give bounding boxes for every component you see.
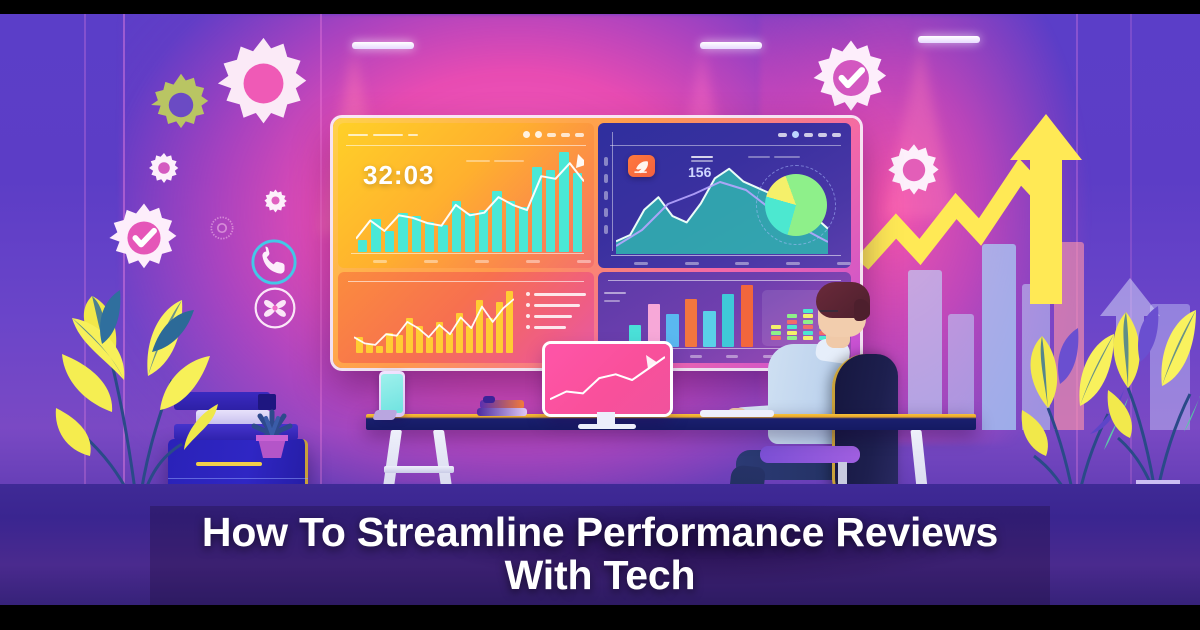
chart-bar (648, 304, 660, 347)
chart-segment (803, 336, 813, 340)
list-item (534, 315, 572, 318)
toolbar-dot-icon[interactable] (792, 131, 799, 138)
list-bullet-icon (526, 314, 530, 318)
book (483, 396, 495, 403)
person-glasses (820, 310, 838, 312)
chart-segment (787, 325, 797, 329)
phone-stand (372, 410, 397, 420)
area-chart-pie-panel[interactable]: 156 (598, 123, 851, 268)
letterbox-bottom (0, 605, 1200, 630)
keyboard[interactable] (700, 410, 774, 417)
gear-icon (216, 36, 311, 131)
screenshot-canvas: 32:03 (0, 0, 1200, 630)
line-chart (550, 349, 665, 409)
list-item (534, 293, 586, 296)
phone-icon (250, 238, 298, 286)
list-bullet-icon (526, 325, 530, 329)
toolbar-dot-icon[interactable] (535, 131, 542, 138)
list-bullet-icon (526, 303, 530, 307)
chart-bar (666, 314, 678, 347)
list-item (534, 326, 566, 329)
gear-check-icon (108, 202, 180, 274)
chart-segment (803, 325, 813, 329)
pie-chart (765, 174, 827, 236)
page-title-line2: With Tech (170, 554, 1030, 597)
gear-check-icon (812, 39, 890, 117)
axis-tick (604, 157, 608, 166)
chart-segment (787, 320, 797, 324)
toolbar-pill-icon[interactable] (575, 133, 584, 137)
spotlight-lamp (352, 42, 414, 49)
axis-tick (577, 260, 591, 263)
spotlight-lamp (700, 42, 762, 49)
axis-tick (690, 355, 702, 358)
chart-segment (787, 331, 797, 335)
office-scene: 32:03 (0, 14, 1200, 605)
main-monitor[interactable]: 32:03 (333, 118, 860, 368)
axis-tick (634, 262, 648, 265)
axis-tick (604, 208, 608, 217)
chart-segment (803, 320, 813, 324)
axis-tick (373, 260, 387, 263)
chart-segment (787, 314, 797, 318)
axis-tick (837, 262, 851, 265)
book (477, 408, 527, 416)
gear-icon (147, 151, 181, 185)
axis-tick (726, 355, 738, 358)
chart-segment (771, 331, 781, 335)
toolbar-pill-icon[interactable] (832, 133, 841, 137)
chart-bar (703, 311, 715, 347)
panel-toolbar[interactable] (778, 131, 841, 138)
chart-segment (803, 314, 813, 318)
chair-seat[interactable] (760, 446, 860, 463)
chart-bar (685, 299, 697, 347)
toolbar-pill-icon[interactable] (804, 133, 813, 137)
gear-outline-icon (208, 214, 236, 242)
secondary-monitor[interactable] (545, 344, 670, 414)
potted-succulent (248, 408, 296, 465)
axis-tick (685, 262, 699, 265)
bar-chart (626, 285, 756, 347)
gear-icon (147, 71, 215, 139)
axis-tick (604, 174, 608, 183)
spotlight-lamp (918, 36, 980, 43)
toolbar-pill-icon[interactable] (818, 133, 827, 137)
axis-tick (526, 260, 540, 263)
axis-tick (735, 262, 749, 265)
toolbar-pill-icon[interactable] (778, 133, 787, 137)
smartphone-screen (381, 374, 403, 413)
toolbar-dot-icon[interactable] (523, 131, 530, 138)
fan-icon (253, 286, 297, 330)
chart-segment (787, 336, 797, 340)
timer-bar-chart-panel[interactable]: 32:03 (338, 123, 594, 268)
trend-line (354, 291, 514, 353)
page-title-line1: How To Streamline Performance Reviews (170, 511, 1030, 554)
toolbar-pill-icon[interactable] (561, 133, 570, 137)
chart-segment (803, 331, 813, 335)
chart-segment (771, 336, 781, 340)
secondary-monitor-base (578, 424, 636, 429)
desk-surface (366, 414, 976, 430)
axis-tick (786, 262, 800, 265)
chart-bar (722, 294, 734, 347)
list-item (534, 304, 580, 307)
list-bullet-icon (526, 292, 530, 296)
gear-icon (263, 188, 288, 213)
page-title: How To Streamline Performance Reviews Wi… (0, 511, 1200, 596)
axis-tick (604, 225, 608, 234)
trend-line (356, 152, 584, 252)
letterbox-top (0, 0, 1200, 14)
gear-icon (886, 142, 942, 198)
axis-tick (475, 260, 489, 263)
chart-segment (771, 325, 781, 329)
desk-crossbar (384, 466, 454, 473)
panel-toolbar[interactable] (523, 131, 584, 138)
chart-bar (741, 285, 753, 347)
toolbar-edit-icon[interactable] (547, 133, 556, 137)
chart-segment (803, 309, 813, 313)
axis-tick (604, 191, 608, 200)
axis-tick (424, 260, 438, 263)
